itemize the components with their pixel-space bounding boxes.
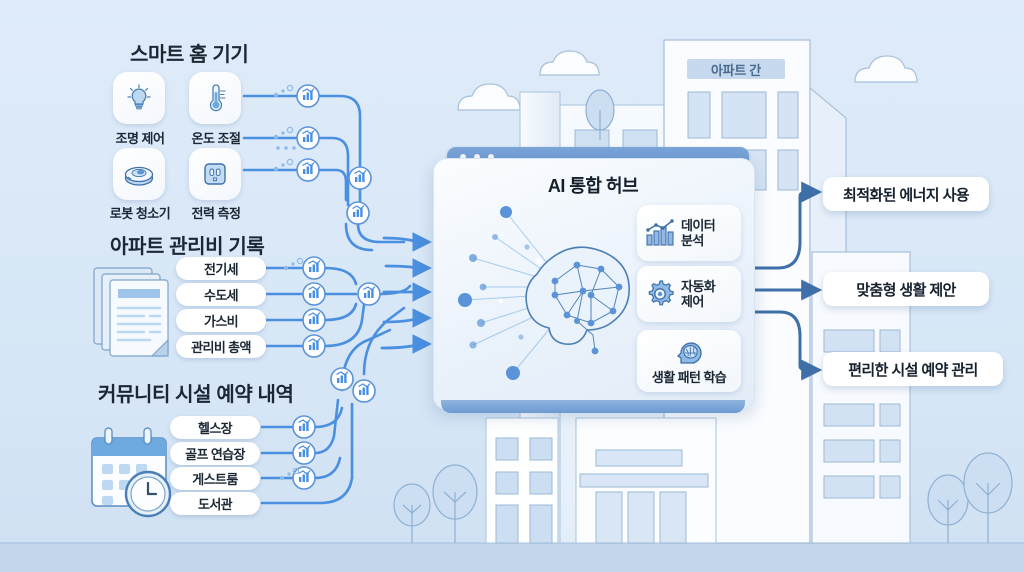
- community-pill-golf[interactable]: 골프 연습장: [170, 442, 260, 465]
- fee-pill-electricity[interactable]: 전기세: [176, 257, 266, 280]
- fee-pill-gas[interactable]: 가스비: [176, 309, 266, 332]
- power-outlet-icon: [199, 158, 231, 190]
- fee-pill-water[interactable]: 수도세: [176, 283, 266, 306]
- calendar-clock-icon: [82, 424, 184, 524]
- hub-window-footer: [441, 400, 745, 413]
- hub-feature-label-2b: 제어: [681, 294, 715, 309]
- device-label-power: 전력 측정: [170, 203, 262, 222]
- section-title-community: 커뮤니티 시설 예약 내역: [98, 378, 293, 407]
- robot-vacuum-icon: [122, 157, 156, 191]
- device-tile-power[interactable]: [189, 148, 241, 200]
- community-pill-gym[interactable]: 헬스장: [170, 416, 260, 439]
- community-pill-library[interactable]: 도서관: [170, 492, 260, 515]
- hub-feature-label-3a: 생활 패턴 학습: [652, 370, 726, 385]
- fee-pill-total[interactable]: 관리비 총액: [176, 335, 266, 358]
- device-tile-vacuum[interactable]: [113, 148, 165, 200]
- hub-feature-label-2a: 자동화: [681, 279, 715, 294]
- output-box-reservation[interactable]: 편리한 시설 예약 관리: [823, 352, 1003, 386]
- section-title-fees: 아파트 관리비 기록: [110, 230, 264, 259]
- device-tile-lighting[interactable]: [113, 72, 165, 124]
- device-label-temperature: 온도 조절: [170, 128, 262, 147]
- section-title-devices: 스마트 홈 기기: [130, 38, 248, 67]
- community-pill-guestroom[interactable]: 게스트룸: [170, 467, 260, 490]
- hub-feature-label-1a: 데이터: [681, 218, 715, 233]
- document-stack-icon: [88, 258, 188, 363]
- lightbulb-icon: [123, 82, 155, 114]
- infographic-canvas: 스마트 홈 기기 아파트 관리비 기록 커뮤니티 시설 예약 내역 조명 제어: [0, 0, 1024, 572]
- output-box-energy[interactable]: 최적화된 에너지 사용: [823, 177, 989, 211]
- head-brain-icon: [672, 337, 706, 369]
- thermometer-icon: [199, 82, 231, 114]
- device-tile-temperature[interactable]: [189, 72, 241, 124]
- neural-brain-icon: [443, 195, 653, 395]
- hub-feature-label-1b: 분석: [681, 233, 715, 248]
- output-box-lifestyle[interactable]: 맞춤형 생활 제안: [823, 272, 989, 306]
- building-sign: 아파트 간: [687, 59, 785, 79]
